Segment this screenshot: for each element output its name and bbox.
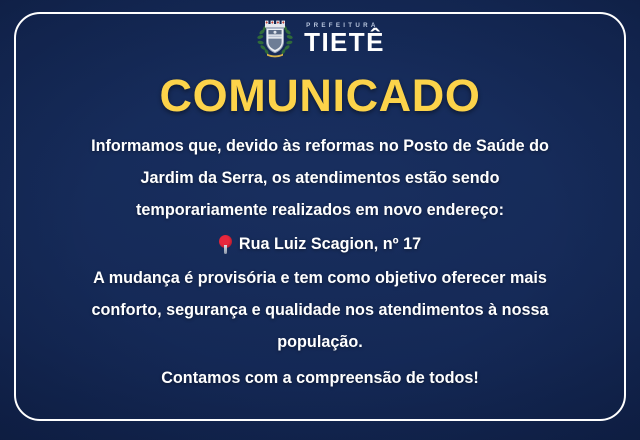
body-line: Informamos que, devido às reformas no Po… xyxy=(40,138,600,154)
body-line: população. xyxy=(40,334,600,350)
location-pin-icon xyxy=(219,235,232,254)
tiete-coat-of-arms-icon xyxy=(255,18,295,60)
prefecture-logo: PREFEITURA TIETÊ xyxy=(255,16,385,62)
body-line: temporariamente realizados em novo ender… xyxy=(40,202,600,218)
closing-line: Contamos com a compreensão de todos! xyxy=(40,370,600,386)
address-text: Rua Luiz Scagion, nº 17 xyxy=(239,236,421,252)
body-line: Jardim da Serra, os atendimentos estão s… xyxy=(40,170,600,186)
address-line: Rua Luiz Scagion, nº 17 xyxy=(40,235,600,254)
announcement-body: Informamos que, devido às reformas no Po… xyxy=(40,138,600,386)
poster-content: PREFEITURA TIETÊ COMUNICADO Informamos q… xyxy=(0,0,640,440)
city-name: TIETÊ xyxy=(304,30,385,54)
body-line: A mudança é provisória e tem como objeti… xyxy=(40,270,600,286)
logo-wordmark: PREFEITURA TIETÊ xyxy=(304,23,385,55)
body-line: conforto, segurança e qualidade nos aten… xyxy=(40,302,600,318)
headline-comunicado: COMUNICADO xyxy=(160,73,481,118)
comunicado-poster: PREFEITURA TIETÊ COMUNICADO Informamos q… xyxy=(0,0,640,440)
